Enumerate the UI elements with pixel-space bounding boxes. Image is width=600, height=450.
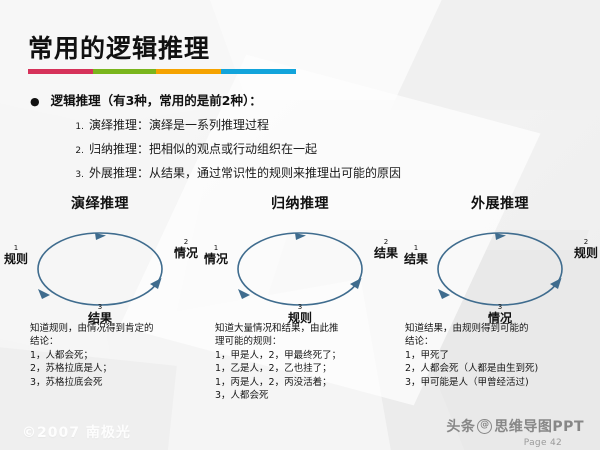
cycle-arrowhead-top <box>495 233 506 240</box>
diagram-title: 外展推理 <box>400 193 600 213</box>
cycle-node-2: 2 结果 <box>374 239 398 259</box>
cycle-arrowhead-top <box>295 233 306 240</box>
diagram-title: 归纳推理 <box>200 193 400 213</box>
copyright-watermark: ©2007 南极光 <box>22 422 131 442</box>
cycle-node-3: 3 情况 <box>400 304 600 324</box>
lead-bullet: ● 逻辑推理（有3种，常用的是前2种）： <box>30 90 590 109</box>
cycle-arrowhead-top <box>95 233 106 240</box>
accent-segment-green <box>93 69 157 74</box>
caption-abductive: 知道结果，由规则得到可能的 结论： 1，甲死了 2，人都会死（人都是由生到死) … <box>405 322 595 389</box>
cycle-node-2: 2 规则 <box>574 239 598 259</box>
cycle-ellipse <box>438 233 562 305</box>
accent-segment-red <box>28 69 93 74</box>
cycle-node-number: 3 <box>400 304 600 311</box>
page-title: 常用的逻辑推理 <box>28 36 296 61</box>
channel-prefix: 头条 <box>446 416 475 436</box>
title-block: 常用的逻辑推理 <box>28 36 296 74</box>
cycle-arrowhead-left <box>238 289 250 299</box>
cycle-diagram: 1 结果 2 规则 3 情况 <box>400 219 600 317</box>
diagram-column-abductive: 外展推理 1 结果 2 规则 3 情况 <box>400 193 600 317</box>
bullet-list: ● 逻辑推理（有3种，常用的是前2种）： 1. 演绎推理：演绎是一系列推理过程 … <box>30 90 590 181</box>
diagram-column-deductive: 演绎推理 1 规则 2 情况 3 结果 <box>0 193 200 317</box>
numbered-item: 2. 归纳推理：把相似的观点或行动组织在一起 <box>70 140 590 157</box>
cycle-node-label: 结果 <box>404 253 428 265</box>
lead-bullet-text: 逻辑推理（有3种，常用的是前2种）： <box>51 90 262 109</box>
cycle-node-number: 2 <box>374 239 398 246</box>
accent-bar <box>28 69 296 74</box>
diagram-column-inductive: 归纳推理 1 情况 2 结果 3 规则 <box>200 193 400 317</box>
numbered-item: 1. 演绎推理：演绎是一系列推理过程 <box>70 116 590 133</box>
cycle-arrowhead-right <box>550 278 562 289</box>
cycle-arrowhead-right <box>350 278 362 289</box>
cycle-node-2: 2 情况 <box>174 239 198 259</box>
cycle-node-label: 规则 <box>4 253 28 265</box>
cycle-diagram: 1 情况 2 结果 3 规则 <box>200 219 400 317</box>
page-number: Page 42 <box>524 438 562 448</box>
cycle-arrowhead-right <box>150 278 162 289</box>
cycle-arrowhead-left <box>438 289 450 299</box>
caption-deductive: 知道规则，由情况得到肯定的 结论： 1，人都会死； 2，苏格拉底是人； 3，苏格… <box>30 322 212 389</box>
cycle-node-label: 结果 <box>374 247 398 259</box>
numbered-item-index: 3. <box>70 170 84 180</box>
numbered-item-text: 外展推理：从结果，通过常识性的规则来推理出可能的原因 <box>89 164 401 181</box>
cycle-node-3: 3 结果 <box>0 304 200 324</box>
channel-watermark: 头条 @ 思维导图PPT <box>446 416 584 436</box>
cycle-node-number: 1 <box>204 245 228 252</box>
diagram-columns: 演绎推理 1 规则 2 情况 3 结果 <box>0 193 600 317</box>
accent-segment-orange <box>156 69 221 74</box>
bullet-dot-icon: ● <box>30 96 40 107</box>
cycle-node-number: 2 <box>574 239 598 246</box>
cycle-arrowhead-left <box>38 289 50 299</box>
cycle-node-number: 3 <box>0 304 200 311</box>
numbered-item-index: 2. <box>70 146 84 156</box>
cycle-ellipse <box>38 233 162 305</box>
cycle-diagram: 1 规则 2 情况 3 结果 <box>0 219 200 317</box>
accent-segment-blue <box>221 69 296 74</box>
cycle-node-label: 情况 <box>204 253 228 265</box>
cycle-node-1: 1 规则 <box>4 245 28 265</box>
cycle-node-1: 1 情况 <box>204 245 228 265</box>
cycle-node-number: 1 <box>404 245 428 252</box>
at-sign-icon: @ <box>477 419 492 434</box>
numbered-item: 3. 外展推理：从结果，通过常识性的规则来推理出可能的原因 <box>70 164 590 181</box>
slide-canvas: 常用的逻辑推理 ● 逻辑推理（有3种，常用的是前2种）： 1. 演绎推理：演绎是… <box>0 0 600 450</box>
numbered-item-text: 演绎推理：演绎是一系列推理过程 <box>89 116 269 133</box>
cycle-node-number: 3 <box>200 304 400 311</box>
cycle-node-label: 情况 <box>174 247 198 259</box>
cycle-ellipse <box>238 233 362 305</box>
cycle-node-label: 规则 <box>574 247 598 259</box>
numbered-item-index: 1. <box>70 122 84 132</box>
cycle-node-1: 1 结果 <box>404 245 428 265</box>
cycle-node-number: 2 <box>174 239 198 246</box>
diagram-title: 演绎推理 <box>0 193 200 213</box>
channel-name: 思维导图PPT <box>494 416 584 436</box>
caption-inductive: 知道大量情况和结果，由此推 理可能的规则： 1，甲是人，2，甲最终死了； 1，乙… <box>215 322 401 403</box>
cycle-node-3: 3 规则 <box>200 304 400 324</box>
numbered-item-text: 归纳推理：把相似的观点或行动组织在一起 <box>89 140 317 157</box>
cycle-node-number: 1 <box>4 245 28 252</box>
